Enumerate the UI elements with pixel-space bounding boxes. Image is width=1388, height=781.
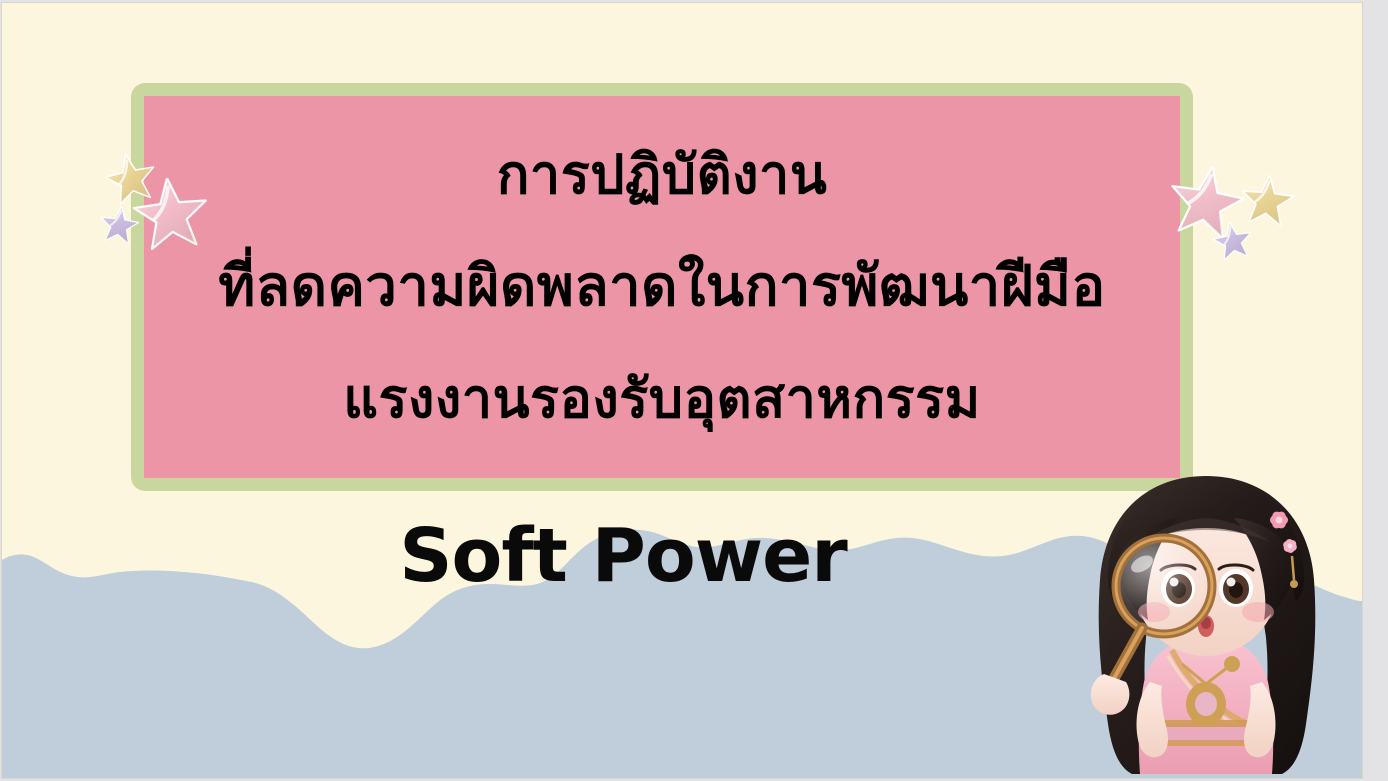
character-illustration <box>1046 468 1363 778</box>
title-line-1: การปฏิบัติงาน <box>497 144 828 206</box>
star-purple-right-icon <box>1210 219 1256 265</box>
slide-canvas: การปฏิบัติงาน ที่ลดความผิดพลาดในการพัฒนา… <box>1 2 1363 779</box>
slide-stage: การปฏิบัติงาน ที่ลดความผิดพลาดในการพัฒนา… <box>0 0 1388 781</box>
soft-power-heading: Soft Power <box>2 519 1363 593</box>
star-yellow-right-icon <box>1237 172 1296 231</box>
title-line-3: แรงงานรองรับอุตสาหกรรม <box>343 368 981 430</box>
title-fill: การปฏิบัติงาน ที่ลดความผิดพลาดในการพัฒนา… <box>144 96 1180 478</box>
title-frame: การปฏิบัติงาน ที่ลดความผิดพลาดในการพัฒนา… <box>131 83 1193 491</box>
title-line-2: ที่ลดความผิดพลาดในการพัฒนาฝีมือ <box>218 255 1105 319</box>
